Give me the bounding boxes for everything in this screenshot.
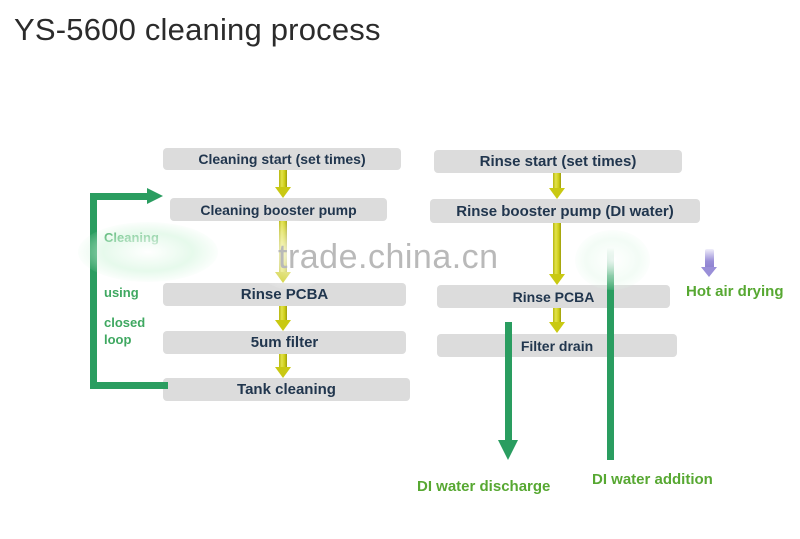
di-water-discharge-line xyxy=(505,322,512,444)
closed-loop-bottom-line xyxy=(90,382,168,389)
process-box-label: Filter drain xyxy=(521,338,593,354)
page-title: YS-5600 cleaning process xyxy=(14,12,381,48)
diagram-canvas: YS-5600 cleaning process Cleaning start … xyxy=(0,0,800,539)
closed-loop-label-loop: loop xyxy=(104,332,131,347)
process-box-rinse-pcba-right: Rinse PCBA xyxy=(437,285,670,308)
label-di-water-addition: DI water addition xyxy=(592,471,713,488)
process-box-rinse-pcba-left: Rinse PCBA xyxy=(163,283,406,306)
di-water-addition-line-fade xyxy=(607,248,614,276)
closed-loop-label-closed: closed xyxy=(104,315,145,330)
watermark: trade.china.cn xyxy=(278,238,499,277)
di-water-addition-line xyxy=(607,275,614,460)
process-box-label: Tank cleaning xyxy=(237,381,336,398)
process-box-label: Cleaning start (set times) xyxy=(198,151,365,167)
process-box-cleaning-booster-pump: Cleaning booster pump xyxy=(170,198,387,221)
label-hot-air-drying: Hot air drying xyxy=(686,283,784,300)
process-box-label: Rinse PCBA xyxy=(513,289,595,305)
process-box-label: Rinse booster pump (DI water) xyxy=(456,203,674,220)
process-box-rinse-booster-pump: Rinse booster pump (DI water) xyxy=(430,199,700,223)
process-box-rinse-start: Rinse start (set times) xyxy=(434,150,682,173)
process-box-label: Cleaning booster pump xyxy=(200,202,356,218)
process-box-label: 5um filter xyxy=(251,334,319,351)
closed-loop-arrow-head xyxy=(147,188,163,204)
closed-loop-label-cleaning: Cleaning xyxy=(104,230,159,245)
closed-loop-label-using: using xyxy=(104,285,139,300)
process-box-5um-filter: 5um filter xyxy=(163,331,406,354)
process-box-label: Rinse start (set times) xyxy=(480,153,637,170)
di-water-discharge-arrow-head xyxy=(498,440,518,460)
closed-loop-vertical-line xyxy=(90,193,97,389)
process-box-label: Rinse PCBA xyxy=(241,286,329,303)
closed-loop-top-line xyxy=(90,193,147,200)
process-box-cleaning-start: Cleaning start (set times) xyxy=(163,148,401,170)
process-box-filter-drain: Filter drain xyxy=(437,334,677,357)
process-box-tank-cleaning: Tank cleaning xyxy=(163,378,410,401)
label-di-water-discharge: DI water discharge xyxy=(417,478,550,495)
